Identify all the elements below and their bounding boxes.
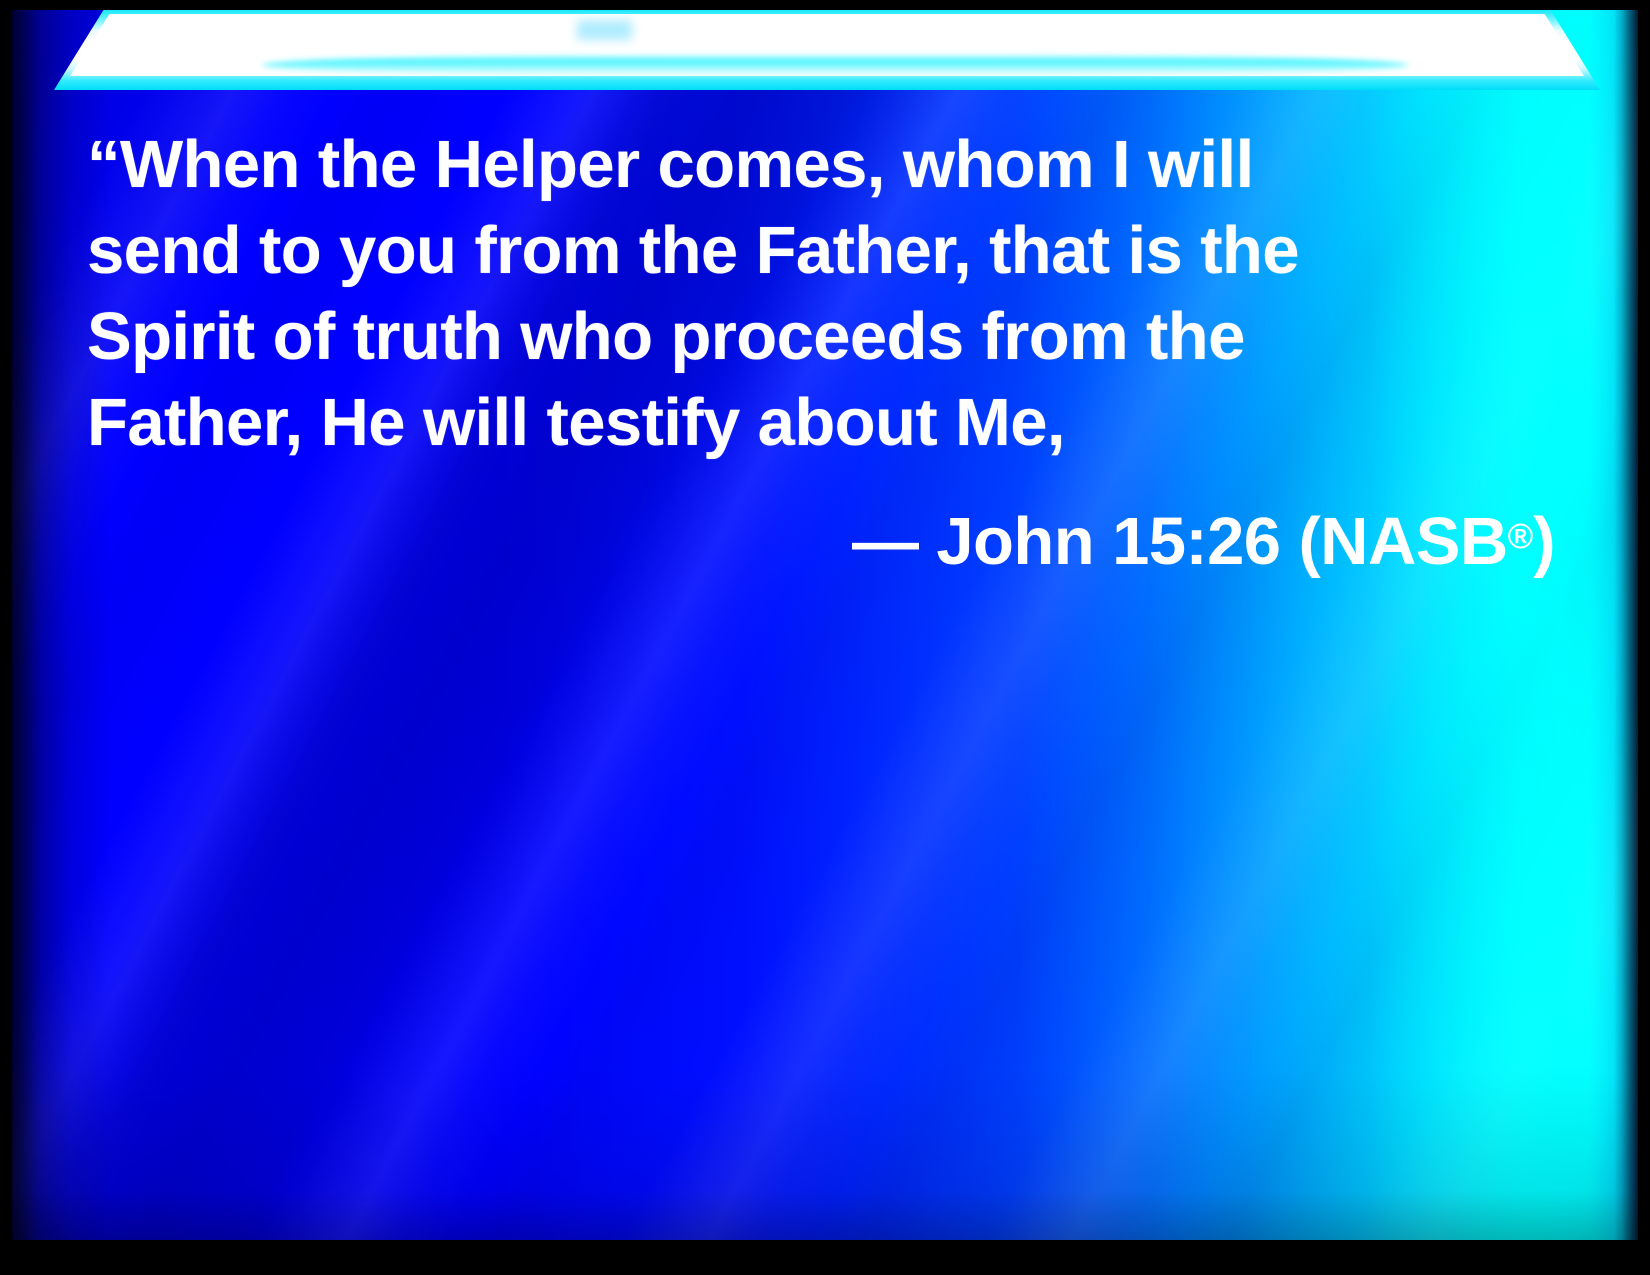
verse-line-1: “When the Helper comes, whom I will (87, 122, 1577, 208)
banner-notch-accent (577, 20, 632, 40)
attribution-translation-close: ) (1533, 504, 1555, 579)
top-banner (12, 10, 1638, 90)
slide-canvas: “When the Helper comes, whom I will send… (12, 10, 1638, 1240)
verse-line-4: Father, He will testify about Me, (87, 380, 1577, 466)
verse-line-2: send to you from the Father, that is the (87, 208, 1577, 294)
attribution-dash: — (852, 504, 918, 579)
scripture-slide: “When the Helper comes, whom I will send… (0, 0, 1650, 1275)
registered-trademark-icon: ® (1508, 517, 1534, 556)
verse-line-3: Spirit of truth who proceeds from the (87, 294, 1577, 380)
banner-cyan-highlight (262, 54, 1408, 76)
attribution-book: John (936, 504, 1094, 579)
attribution-reference: 15:26 (1112, 504, 1280, 579)
verse-attribution: — John 15:26 (NASB®) (87, 494, 1577, 585)
attribution-translation-open: (NASB (1298, 504, 1507, 579)
verse-text-block: “When the Helper comes, whom I will send… (87, 122, 1577, 585)
